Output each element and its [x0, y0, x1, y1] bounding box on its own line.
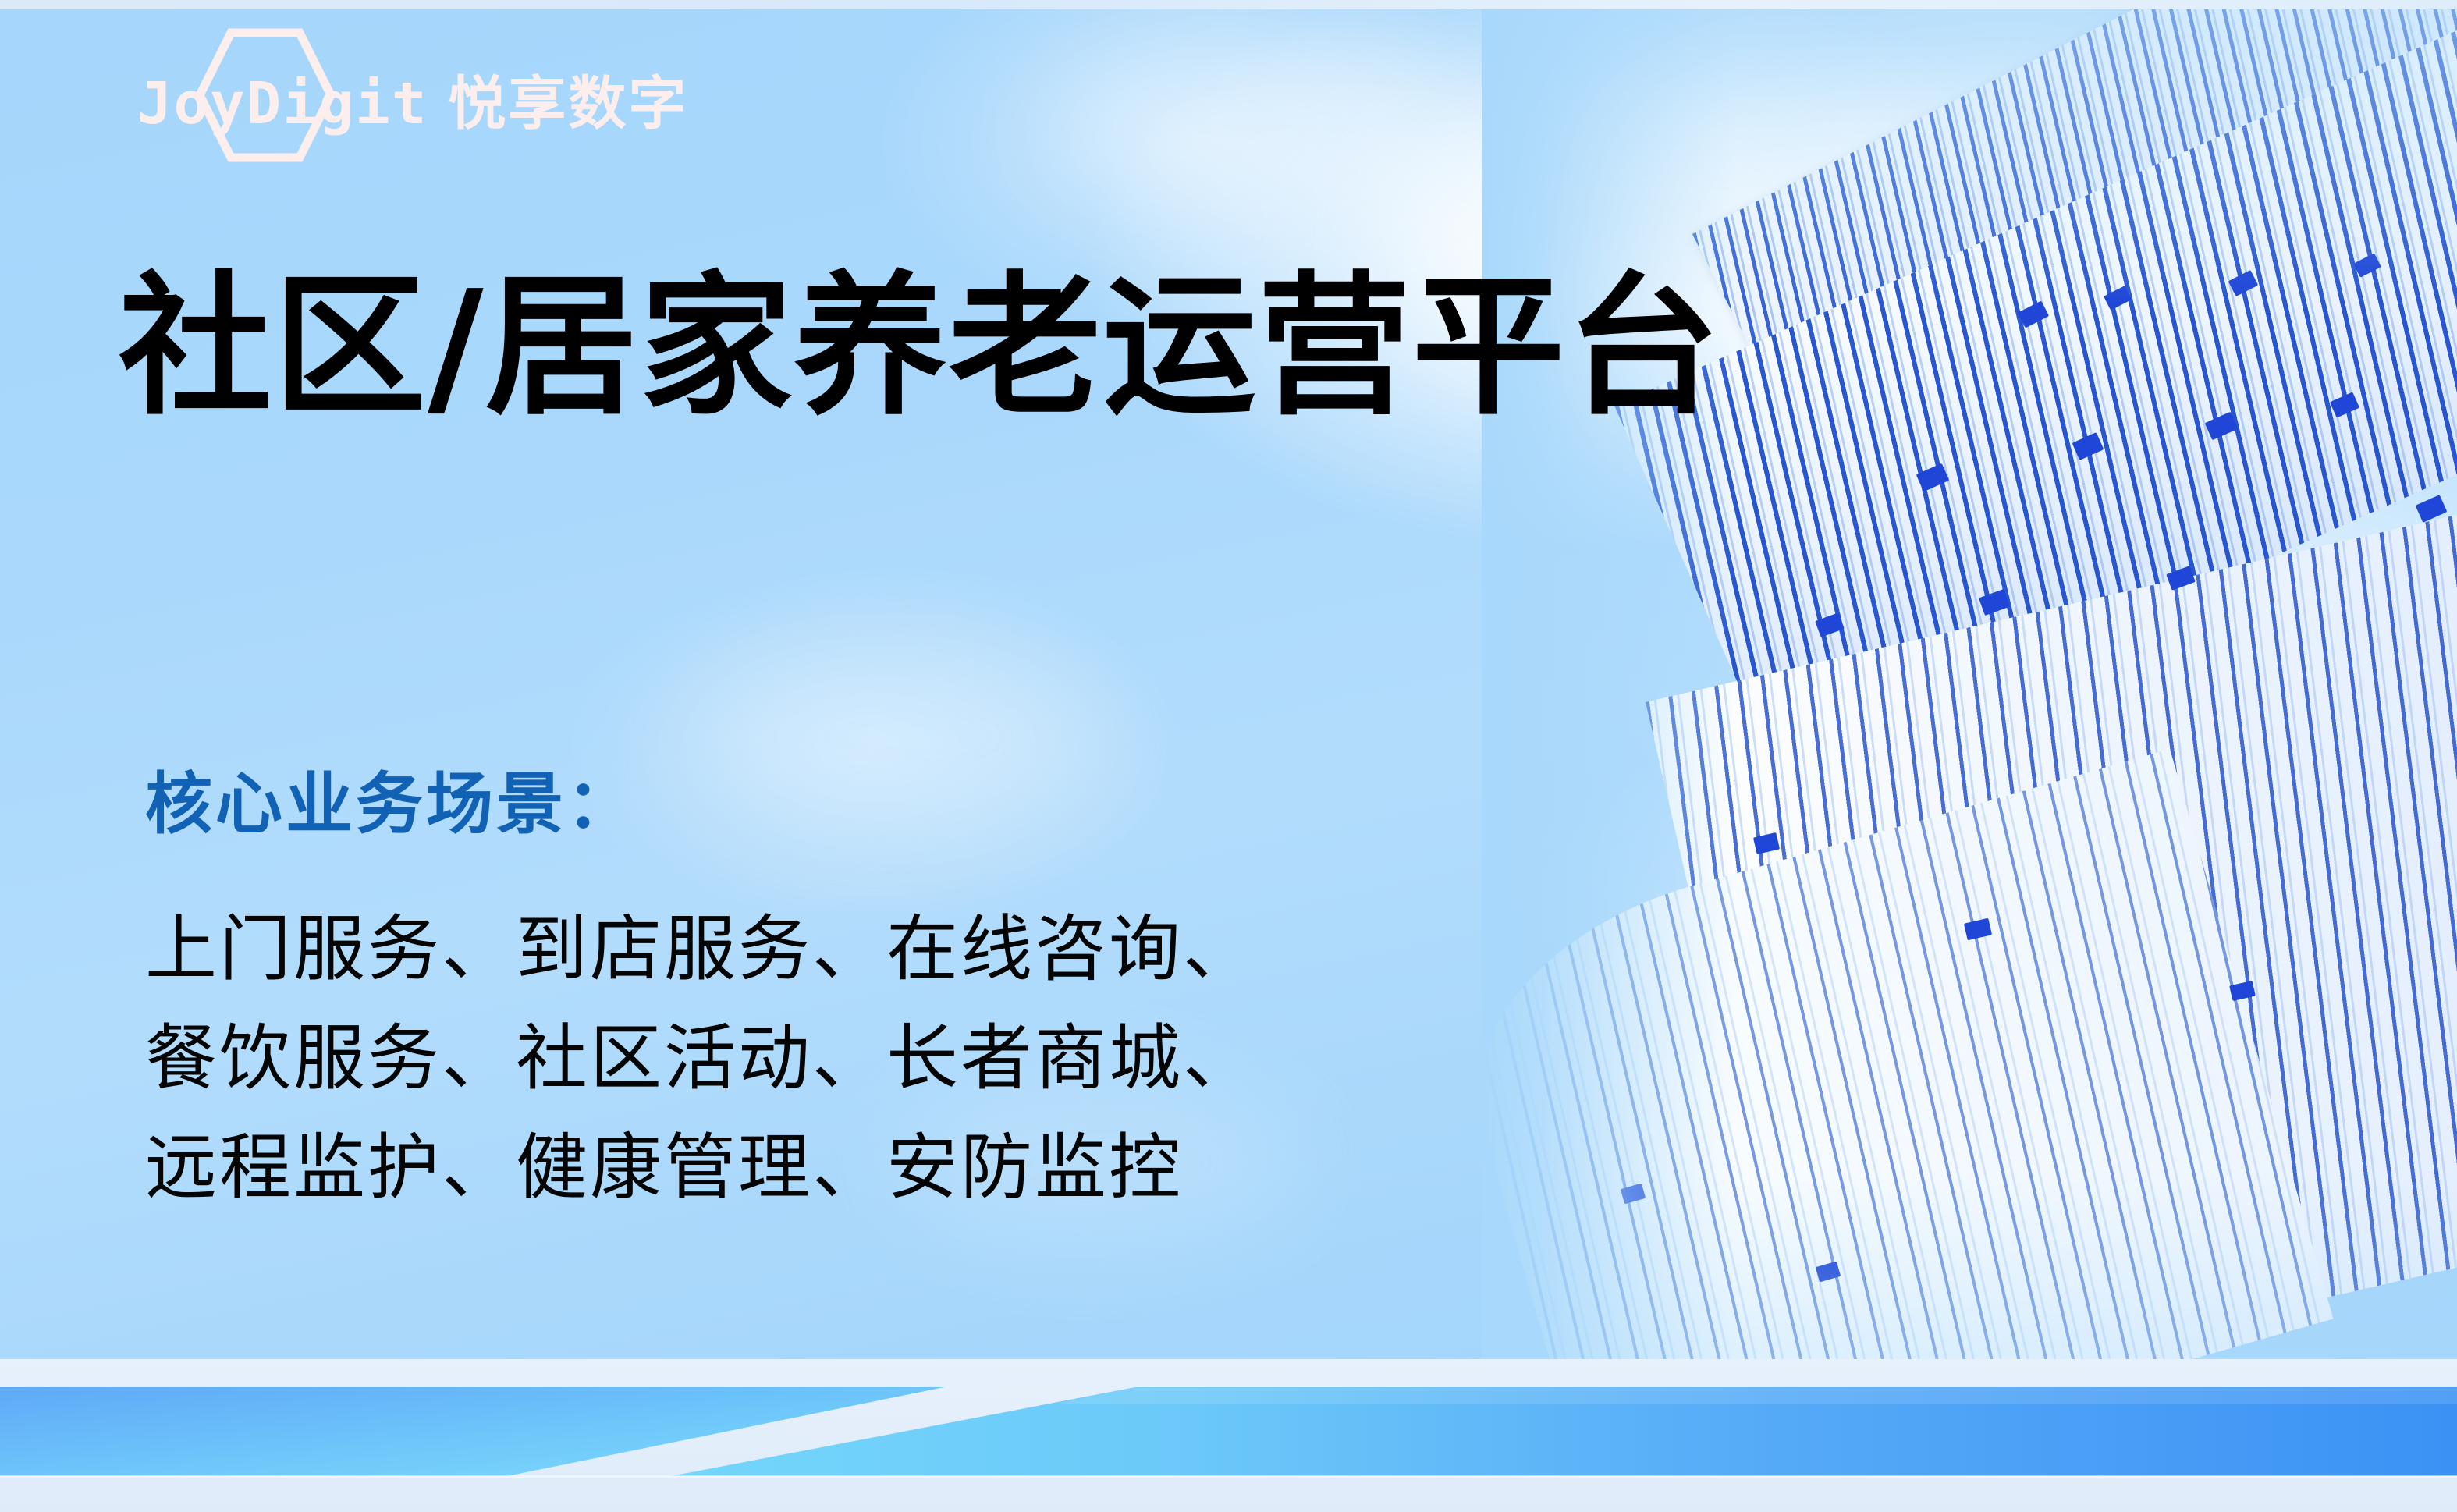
- section-heading: 核心业务场景：: [145, 765, 1257, 845]
- content-block: 核心业务场景： 上门服务、到店服务、在线咨询、 餐饮服务、社区活动、长者商城、 …: [145, 765, 1257, 1223]
- slide-root: JoyDigit 悦享数字 社区/居家养老运营平台 核心业务场景： 上门服务、到…: [0, 0, 2457, 1512]
- logo-text-group: JoyDigit 悦享数字: [137, 58, 688, 133]
- brand-logo[interactable]: JoyDigit 悦享数字: [137, 33, 688, 158]
- list-item: 远程监护、健康管理、安防监控: [145, 1113, 1257, 1223]
- logo-name-cn: 悦享数字: [448, 75, 688, 133]
- skyscraper-photo: [1482, 0, 2457, 1397]
- logo-wordmark: JoyDigit: [137, 75, 428, 133]
- ribbon-baseline: [0, 1475, 2457, 1478]
- page-title: 社区/居家养老运营平台: [119, 265, 1721, 431]
- cloud-shape: [1053, 31, 1459, 218]
- list-item: 餐饮服务、社区活动、长者商城、: [145, 1004, 1257, 1113]
- top-edge-strip: [0, 0, 2457, 9]
- list-item: 上门服务、到店服务、在线咨询、: [145, 895, 1257, 1004]
- bottom-ribbon: [0, 1359, 2457, 1512]
- scenario-list: 上门服务、到店服务、在线咨询、 餐饮服务、社区活动、长者商城、 远程监护、健康管…: [145, 895, 1257, 1222]
